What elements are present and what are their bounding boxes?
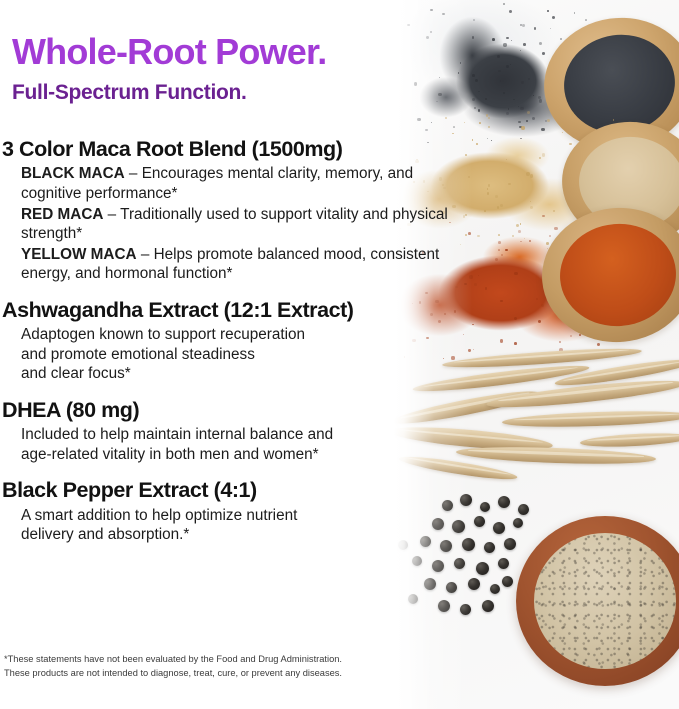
ingredient-section-maca: 3 Color Maca Root Blend (1500mg) BLACK M… (2, 137, 467, 284)
ingredient-title-dhea: DHEA (80 mg) (2, 398, 467, 423)
bullet-red-maca: RED MACA – Traditionally used to support… (21, 205, 467, 244)
disclaimer-line-1: *These statements have not been evaluate… (4, 652, 474, 666)
bowl-contents-ground-pepper (534, 533, 676, 669)
bullet-term-red-maca: RED MACA (21, 206, 103, 223)
ingredient-body-black-pepper: A smart addition to help optimize nutrie… (21, 506, 467, 545)
bullet-black-maca: BLACK MACA – Encourages mental clarity, … (21, 164, 467, 203)
disclaimer-line-2: These products are not intended to diagn… (4, 666, 474, 680)
dhea-line-2: age-related vitality in both men and wom… (21, 445, 467, 465)
bullet-yellow-maca: YELLOW MACA – Helps promote balanced moo… (21, 245, 467, 284)
ingredient-body-dhea: Included to help maintain internal balan… (21, 425, 467, 464)
black-pepper-line-2: delivery and absorption.* (21, 525, 467, 545)
ingredient-title-maca: 3 Color Maca Root Blend (1500mg) (2, 137, 467, 162)
bullet-term-black-maca: BLACK MACA (21, 165, 125, 182)
ingredient-title-black-pepper: Black Pepper Extract (4:1) (2, 478, 467, 503)
headline-primary: Whole-Root Power. (12, 34, 326, 70)
ingredient-title-ashwagandha: Ashwagandha Extract (12:1 Extract) (2, 298, 467, 323)
ingredient-section-black-pepper: Black Pepper Extract (4:1) A smart addit… (2, 478, 467, 545)
bullet-dash-red-maca: – (103, 206, 120, 223)
headline-secondary: Full-Spectrum Function. (12, 82, 247, 103)
ingredient-section-ashwagandha: Ashwagandha Extract (12:1 Extract) Adapt… (2, 298, 467, 384)
ingredient-sections: 3 Color Maca Root Blend (1500mg) BLACK M… (2, 137, 467, 559)
ashwagandha-line-1: Adaptogen known to support recuperation (21, 325, 467, 345)
bullet-dash-yellow-maca: – (137, 246, 154, 263)
ingredient-section-dhea: DHEA (80 mg) Included to help maintain i… (2, 398, 467, 465)
bowl-contents-red-maca (556, 219, 679, 331)
black-pepper-line-1: A smart addition to help optimize nutrie… (21, 506, 467, 526)
bullet-dash-black-maca: – (125, 165, 142, 182)
bullet-term-yellow-maca: YELLOW MACA (21, 246, 137, 263)
text-column: Whole-Root Power. Full-Spectrum Function… (0, 0, 470, 709)
dhea-line-1: Included to help maintain internal balan… (21, 425, 467, 445)
product-ingredient-infographic: Whole-Root Power. Full-Spectrum Function… (0, 0, 679, 709)
fda-disclaimer: *These statements have not been evaluate… (4, 652, 474, 680)
ashwagandha-line-2: and promote emotional steadiness (21, 345, 467, 365)
ashwagandha-line-3: and clear focus* (21, 364, 467, 384)
ingredient-body-maca: BLACK MACA – Encourages mental clarity, … (21, 164, 467, 283)
ingredient-body-ashwagandha: Adaptogen known to support recuperation … (21, 325, 467, 384)
